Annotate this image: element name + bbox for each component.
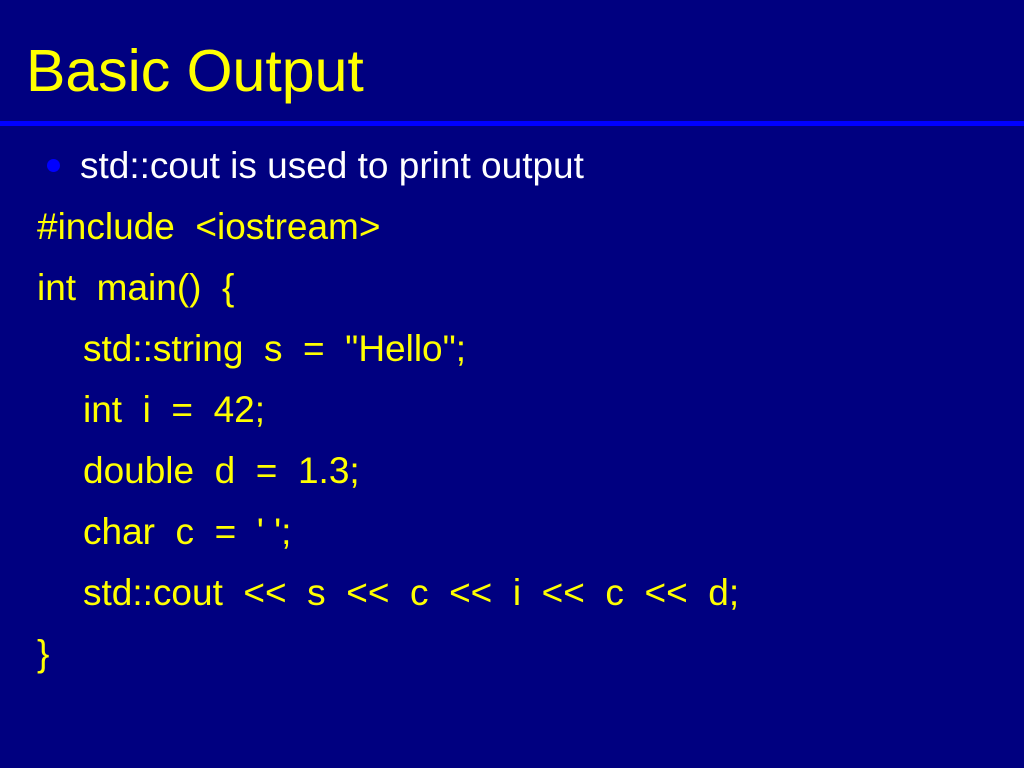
bullet-item-label: std::cout is used to print output xyxy=(80,140,1024,192)
page-title: Basic Output xyxy=(26,38,364,104)
slide-canvas: Basic Output std::cout is used to print … xyxy=(0,0,1024,768)
code-line: char c = ' '; xyxy=(0,501,1024,562)
bullet-dot-icon xyxy=(47,159,60,172)
code-line: std::cout << s << c << i << c << d; xyxy=(0,562,1024,623)
code-line: int main() { xyxy=(0,257,1024,318)
code-line: double d = 1.3; xyxy=(0,440,1024,501)
code-line: #include <iostream> xyxy=(0,196,1024,257)
code-block: #include <iostream> int main() { std::st… xyxy=(0,196,1024,684)
code-line: } xyxy=(0,623,1024,684)
title-divider xyxy=(0,121,1024,126)
code-line: std::string s = "Hello"; xyxy=(0,318,1024,379)
list-item: std::cout is used to print output xyxy=(0,140,1024,196)
slide-body: std::cout is used to print output #inclu… xyxy=(0,140,1024,684)
code-line: int i = 42; xyxy=(0,379,1024,440)
